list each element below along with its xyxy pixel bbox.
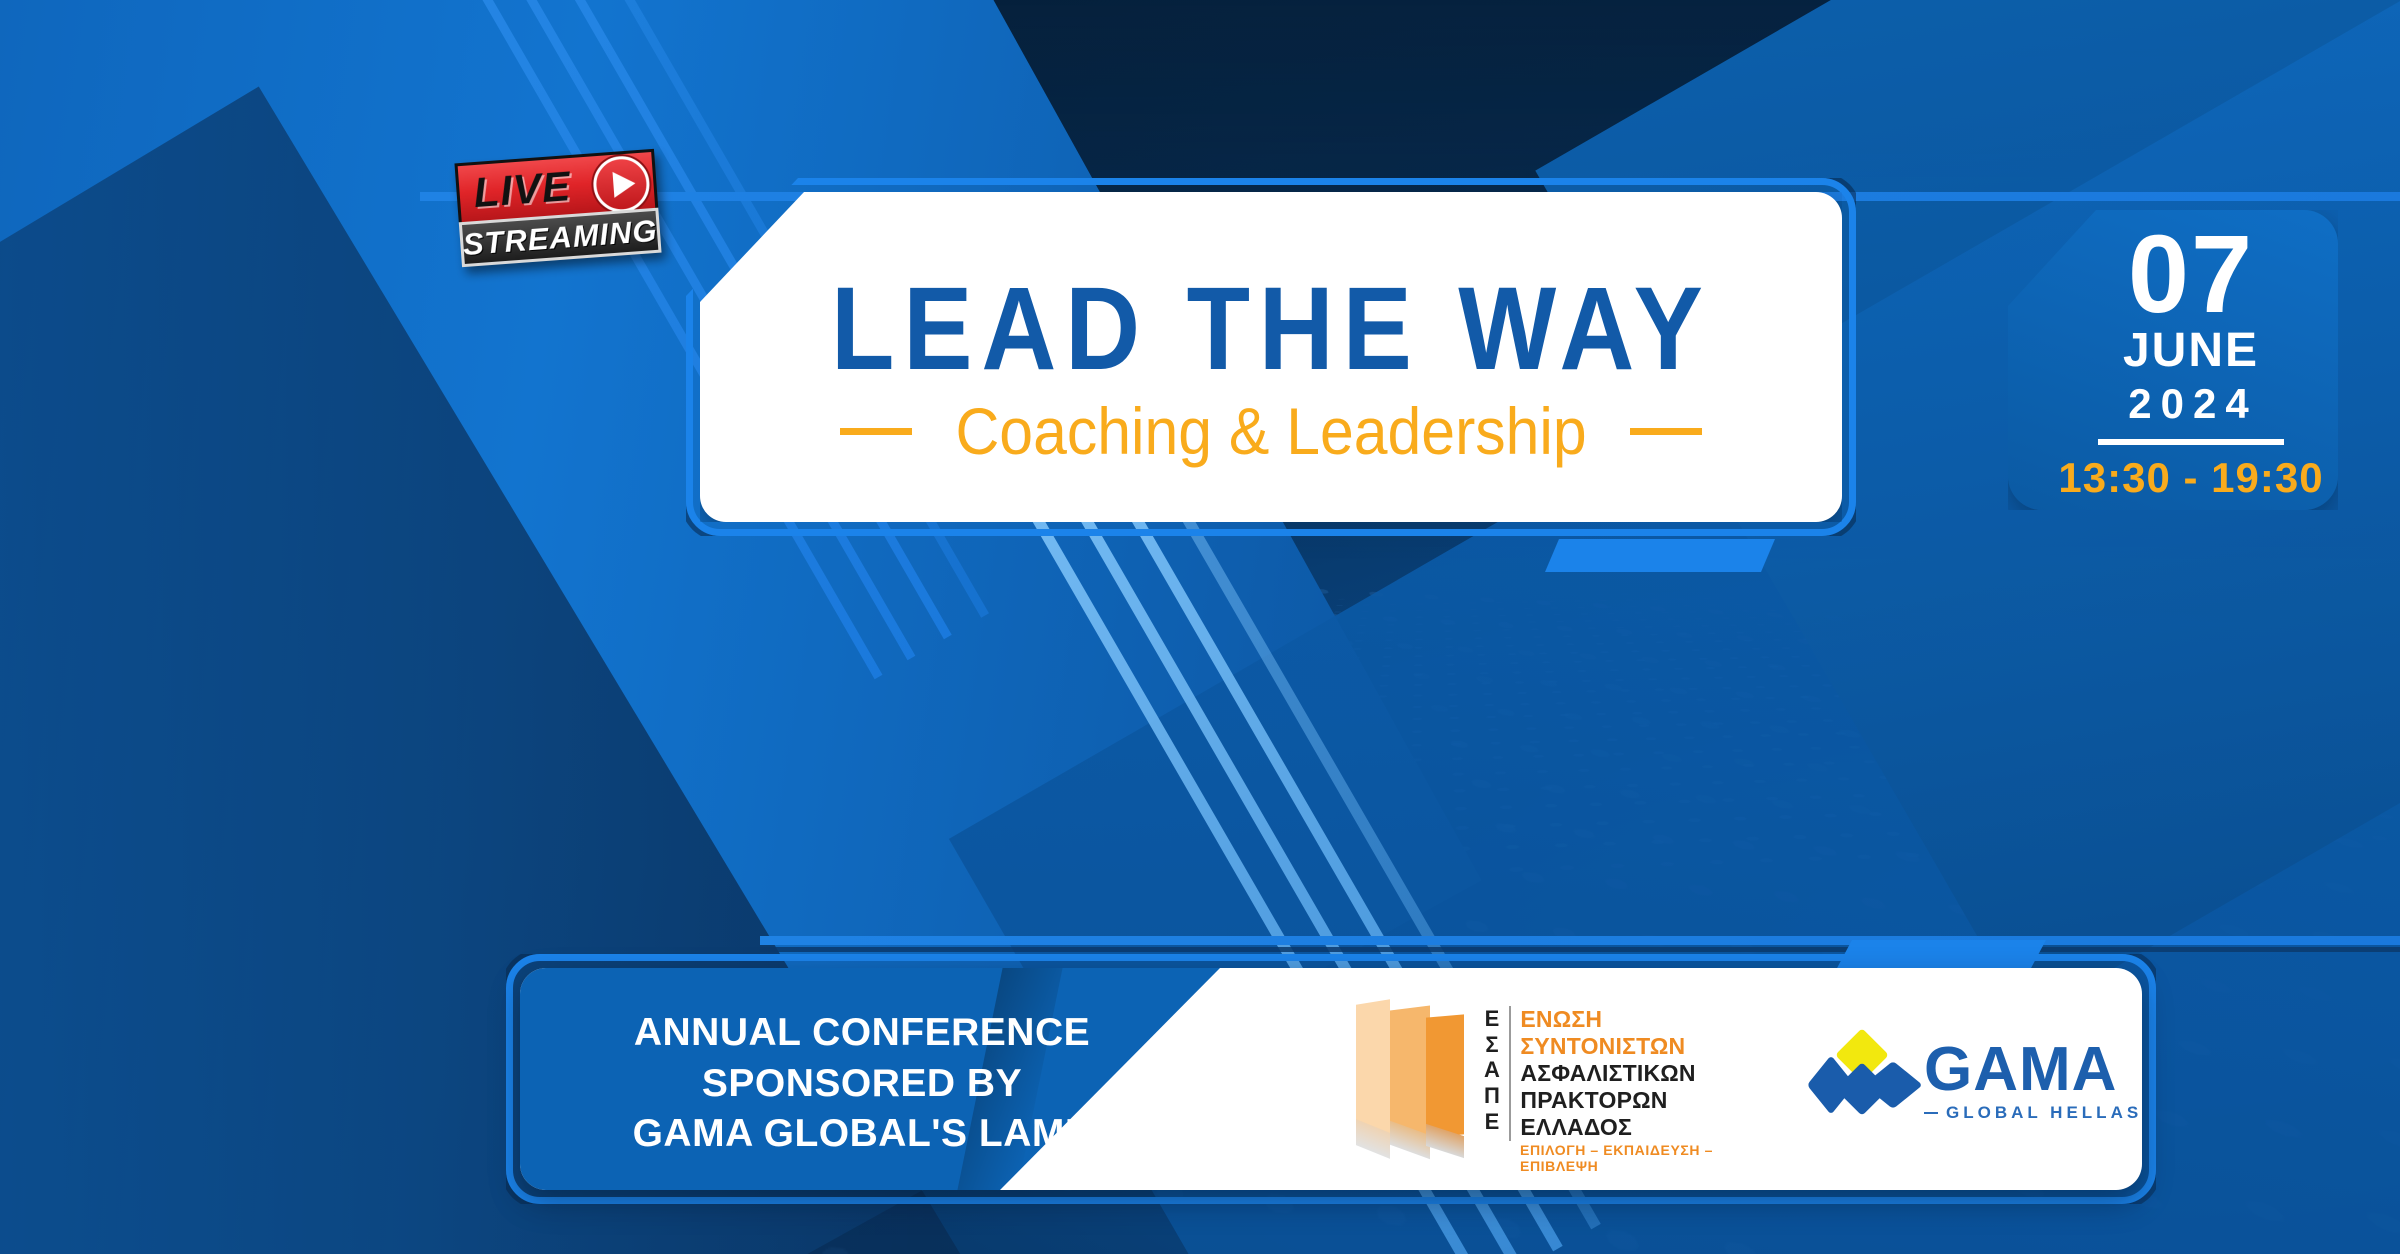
subtitle-row: Coaching & Leadership bbox=[840, 398, 1702, 464]
sponsor-line-1: ANNUAL CONFERENCE bbox=[582, 1008, 1142, 1059]
esape-tagline: ΕΠΙΛΟΓΗ – ΕΚΠΑΙΔΕΥΣΗ – ΕΠΙΒΛΕΨΗ bbox=[1520, 1142, 1770, 1174]
esape-word-1: ΕΝΩΣΗ bbox=[1520, 1006, 1695, 1033]
play-icon bbox=[591, 154, 651, 214]
esape-word-5: ΕΛΛΑΔΟΣ bbox=[1520, 1114, 1695, 1141]
title-card: LEAD THE WAY Coaching & Leadership bbox=[700, 192, 1842, 522]
dash-left-icon bbox=[840, 428, 912, 435]
gama-logo-text: GAMA GLOBAL HELLAS bbox=[1924, 1041, 2142, 1124]
live-streaming-badge[interactable]: LIVE STREAMING bbox=[454, 149, 661, 267]
gama-line-left-icon bbox=[1924, 1112, 1938, 1114]
sponsor-text: ANNUAL CONFERENCE SPONSORED BY GAMA GLOB… bbox=[582, 1008, 1142, 1160]
dash-right-icon bbox=[1630, 428, 1702, 435]
esape-word-4: ΠΡΑΚΤΟΡΩΝ bbox=[1520, 1087, 1695, 1114]
date-month: JUNE bbox=[2123, 327, 2259, 375]
gama-name: GAMA bbox=[1924, 1041, 2142, 1100]
gama-subtitle-row: GLOBAL HELLAS bbox=[1924, 1103, 2142, 1123]
page-title: LEAD THE WAY bbox=[831, 270, 1712, 388]
date-day: 07 bbox=[2128, 224, 2254, 325]
date-divider bbox=[2098, 439, 2284, 445]
event-time: 13:30 - 19:30 bbox=[2058, 457, 2323, 499]
title-accent-tab bbox=[1545, 539, 1775, 572]
sponsor-line-2: SPONSORED BY bbox=[582, 1059, 1142, 1110]
page-subtitle: Coaching & Leadership bbox=[955, 398, 1586, 464]
bottom-bar: ANNUAL CONFERENCE SPONSORED BY GAMA GLOB… bbox=[520, 968, 2142, 1190]
sponsor-line-3: GAMA GLOBAL'S LAMP bbox=[582, 1109, 1142, 1160]
date-card: 07 JUNE 2024 13:30 - 19:30 bbox=[2008, 210, 2338, 510]
horizontal-rule-bottom-shadow bbox=[760, 947, 2400, 952]
esape-word-3: ΑΣΦΑΛΙΣΤΙΚΩΝ bbox=[1520, 1060, 1695, 1087]
streaming-label: STREAMING bbox=[462, 215, 659, 260]
live-label: LIVE bbox=[472, 165, 572, 214]
esape-words: ΕΝΩΣΗ ΣΥΝΤΟΝΙΣΤΩΝ ΑΣΦΑΛΙΣΤΙΚΩΝ ΠΡΑΚΤΟΡΩΝ… bbox=[1520, 1006, 1695, 1141]
gama-subtitle: GLOBAL HELLAS bbox=[1946, 1103, 2142, 1123]
date-year: 2024 bbox=[2128, 383, 2257, 425]
esape-word-2: ΣΥΝΤΟΝΙΣΤΩΝ bbox=[1520, 1033, 1695, 1060]
gama-logo: GAMA GLOBAL HELLAS bbox=[1810, 1024, 2140, 1140]
esape-logo-text: ΕΣΑΠΕ ΕΝΩΣΗ ΣΥΝΤΟΝΙΣΤΩΝ ΑΣΦΑΛΙΣΤΙΚΩΝ ΠΡΑ… bbox=[1484, 1006, 1696, 1141]
esape-logo: ΕΣΑΠΕ ΕΝΩΣΗ ΣΥΝΤΟΝΙΣΤΩΝ ΑΣΦΑΛΙΣΤΙΚΩΝ ΠΡΑ… bbox=[1350, 990, 1770, 1170]
esape-pages-icon bbox=[1350, 994, 1470, 1150]
event-banner: LEAD THE WAY Coaching & Leadership LIVE … bbox=[0, 0, 2400, 1254]
gama-diamond-icon bbox=[1810, 1036, 1914, 1128]
esape-acronym: ΕΣΑΠΕ bbox=[1484, 1006, 1511, 1141]
horizontal-rule-bottom bbox=[760, 936, 2400, 945]
